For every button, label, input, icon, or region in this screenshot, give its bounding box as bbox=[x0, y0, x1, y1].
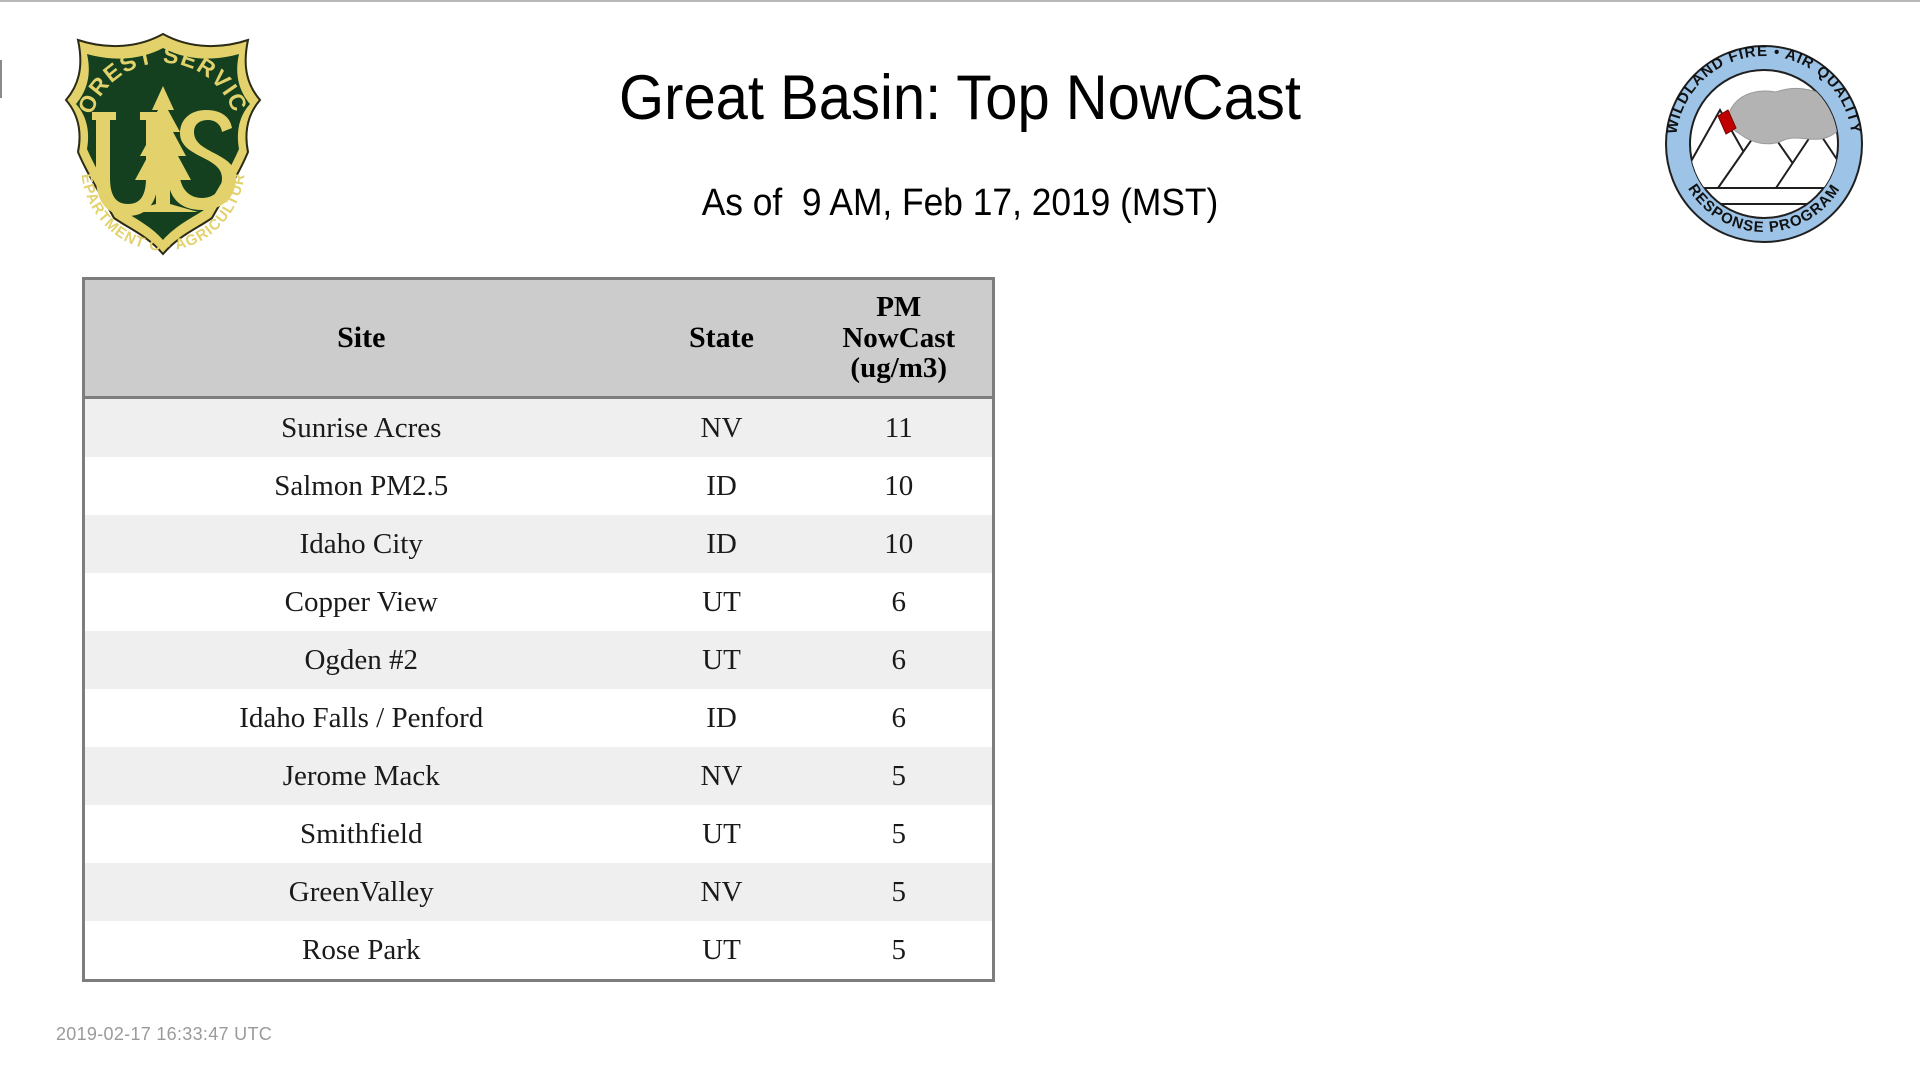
column-header-pm-nowcast: PM NowCast (ug/m3) bbox=[806, 279, 994, 398]
cell-site: GreenValley bbox=[84, 863, 638, 921]
cell-state: ID bbox=[638, 515, 806, 573]
footer-timestamp: 2019-02-17 16:33:47 UTC bbox=[56, 1024, 272, 1045]
cell-state: UT bbox=[638, 805, 806, 863]
table-header-row: Site State PM NowCast (ug/m3) bbox=[84, 279, 994, 398]
cell-site: Jerome Mack bbox=[84, 747, 638, 805]
pm-header-line-2: NowCast bbox=[806, 323, 993, 354]
pm-header-line-3: (ug/m3) bbox=[806, 353, 993, 384]
cell-state: UT bbox=[638, 631, 806, 689]
cell-state: NV bbox=[638, 863, 806, 921]
table-header: Site State PM NowCast (ug/m3) bbox=[84, 279, 994, 398]
cell-state: NV bbox=[638, 398, 806, 458]
column-header-site: Site bbox=[84, 279, 638, 398]
table-row: Rose Park UT 5 bbox=[84, 921, 994, 981]
pm-header-line-1: PM bbox=[806, 292, 993, 323]
table-row: Salmon PM2.5 ID 10 bbox=[84, 457, 994, 515]
cell-site: Idaho Falls / Penford bbox=[84, 689, 638, 747]
table-row: Sunrise Acres NV 11 bbox=[84, 398, 994, 458]
column-header-state: State bbox=[638, 279, 806, 398]
page-subtitle: As of 9 AM, Feb 17, 2019 (MST) bbox=[67, 182, 1853, 225]
cell-site: Copper View bbox=[84, 573, 638, 631]
cell-pm: 11 bbox=[806, 398, 994, 458]
cell-site: Salmon PM2.5 bbox=[84, 457, 638, 515]
cell-state: ID bbox=[638, 689, 806, 747]
cell-pm: 5 bbox=[806, 805, 994, 863]
cell-pm: 5 bbox=[806, 921, 994, 981]
table-body: Sunrise Acres NV 11 Salmon PM2.5 ID 10 I… bbox=[84, 398, 994, 981]
table-row: Ogden #2 UT 6 bbox=[84, 631, 994, 689]
cell-pm: 6 bbox=[806, 573, 994, 631]
cell-pm: 5 bbox=[806, 863, 994, 921]
cell-state: ID bbox=[638, 457, 806, 515]
cell-pm: 6 bbox=[806, 631, 994, 689]
slide-left-edge-mark bbox=[0, 60, 2, 98]
table-row: Copper View UT 6 bbox=[84, 573, 994, 631]
cell-site: Rose Park bbox=[84, 921, 638, 981]
table-row: Smithfield UT 5 bbox=[84, 805, 994, 863]
cell-pm: 5 bbox=[806, 747, 994, 805]
cell-state: UT bbox=[638, 573, 806, 631]
table-row: Idaho City ID 10 bbox=[84, 515, 994, 573]
page-title: Great Basin: Top NowCast bbox=[77, 62, 1843, 134]
slide-top-edge-line bbox=[0, 0, 1920, 2]
cell-site: Ogden #2 bbox=[84, 631, 638, 689]
nowcast-table-container: Site State PM NowCast (ug/m3) Sunrise Ac… bbox=[82, 277, 992, 982]
table-row: Jerome Mack NV 5 bbox=[84, 747, 994, 805]
cell-pm: 6 bbox=[806, 689, 994, 747]
table-row: GreenValley NV 5 bbox=[84, 863, 994, 921]
cell-site: Idaho City bbox=[84, 515, 638, 573]
cell-site: Sunrise Acres bbox=[84, 398, 638, 458]
cell-state: NV bbox=[638, 747, 806, 805]
cell-pm: 10 bbox=[806, 457, 994, 515]
cell-site: Smithfield bbox=[84, 805, 638, 863]
nowcast-table: Site State PM NowCast (ug/m3) Sunrise Ac… bbox=[82, 277, 995, 982]
cell-state: UT bbox=[638, 921, 806, 981]
cell-pm: 10 bbox=[806, 515, 994, 573]
table-row: Idaho Falls / Penford ID 6 bbox=[84, 689, 994, 747]
